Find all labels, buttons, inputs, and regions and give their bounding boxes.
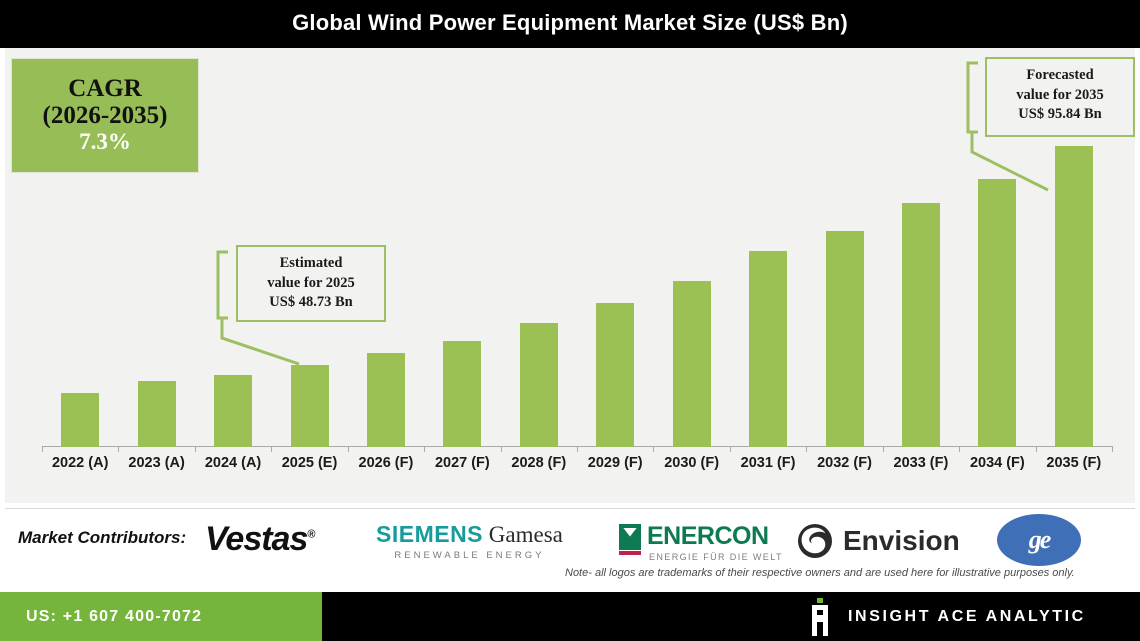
x-tick: [1112, 446, 1113, 452]
contributors-label: Market Contributors:: [18, 528, 186, 548]
x-tick: [424, 446, 425, 452]
x-label-2034F: 2034 (F): [959, 455, 1035, 471]
bar-2031F: [749, 251, 787, 447]
header-bar: Global Wind Power Equipment Market Size …: [0, 0, 1140, 48]
x-tick: [348, 446, 349, 452]
x-tick: [1036, 446, 1037, 452]
bar-2025E: [291, 365, 329, 447]
logo-enercon: ENERCON ENERGIE FÜR DIE WELT: [619, 522, 783, 562]
logo-ge-text: ge: [1029, 525, 1050, 555]
x-label-2033F: 2033 (F): [883, 455, 959, 471]
bar-2022A: [61, 393, 99, 447]
logo-enercon-text: ENERCON: [647, 522, 769, 551]
infographic-page: Global Wind Power Equipment Market Size …: [0, 0, 1140, 641]
x-label-2031F: 2031 (F): [730, 455, 806, 471]
x-label-2028F: 2028 (F): [501, 455, 577, 471]
logo-vestas: Vestas®: [205, 520, 314, 559]
x-label-2027F: 2027 (F): [424, 455, 500, 471]
x-label-2032F: 2032 (F): [807, 455, 883, 471]
x-label-2025E: 2025 (E): [272, 455, 348, 471]
x-label-2022A: 2022 (A): [42, 455, 118, 471]
callout-estimated-2025: Estimated value for 2025 US$ 48.73 Bn: [236, 245, 386, 322]
x-axis-labels: 2022 (A)2023 (A)2024 (A)2025 (E)2026 (F)…: [42, 455, 1112, 481]
callout-est-line2: value for 2025: [247, 274, 375, 294]
bar-2024A: [214, 375, 252, 447]
callout-est-line3: US$ 48.73 Bn: [247, 293, 375, 313]
x-label-2029F: 2029 (F): [577, 455, 653, 471]
x-tick: [118, 446, 119, 452]
bar-2027F: [443, 341, 481, 447]
logo-ge: ge: [997, 514, 1081, 566]
bar-2030F: [673, 281, 711, 447]
enercon-mark-icon: [619, 524, 641, 550]
callout-forecasted-2035: Forecasted value for 2035 US$ 95.84 Bn: [985, 57, 1135, 137]
logo-siemens-tagline: RENEWABLE ENERGY: [376, 550, 563, 561]
x-label-2026F: 2026 (F): [348, 455, 424, 471]
x-tick: [806, 446, 807, 452]
logo-siemens-gamesa: SIEMENS Gamesa RENEWABLE ENERGY: [376, 521, 563, 561]
bar-2033F: [902, 203, 940, 447]
bar-2034F: [978, 179, 1016, 447]
bar-2035F: [1055, 146, 1093, 447]
logo-vestas-mark: ®: [307, 529, 314, 541]
logo-enercon-tagline: ENERGIE FÜR DIE WELT: [649, 552, 783, 562]
x-label-2030F: 2030 (F): [654, 455, 730, 471]
x-tick: [501, 446, 502, 452]
bar-2032F: [826, 231, 864, 447]
bar-2028F: [520, 323, 558, 447]
x-tick: [883, 446, 884, 452]
bar-2026F: [367, 353, 405, 447]
logo-vestas-text: Vestas: [205, 520, 307, 558]
logo-siemens-text: SIEMENS: [376, 521, 483, 547]
trademark-note: Note- all logos are trademarks of their …: [565, 567, 1075, 579]
x-tick: [653, 446, 654, 452]
bar-2029F: [596, 303, 634, 447]
x-tick: [959, 446, 960, 452]
x-label-2035F: 2035 (F): [1036, 455, 1112, 471]
footer-phone: US: +1 607 400-7072: [26, 608, 202, 626]
logo-gamesa-text: Gamesa: [483, 522, 563, 547]
callout-fore-line1: Forecasted: [996, 66, 1124, 86]
bar-series: [42, 60, 1112, 447]
x-label-2024A: 2024 (A): [195, 455, 271, 471]
logo-envision-text: Envision: [843, 525, 960, 557]
contributors-strip: [5, 508, 1135, 593]
x-tick: [730, 446, 731, 452]
x-tick: [271, 446, 272, 452]
page-title: Global Wind Power Equipment Market Size …: [0, 10, 1140, 36]
callout-fore-line2: value for 2035: [996, 86, 1124, 106]
x-label-2023A: 2023 (A): [119, 455, 195, 471]
bar-2023A: [138, 381, 176, 447]
footer-brand-name: INSIGHT ACE ANALYTIC: [848, 608, 1086, 626]
x-tick: [195, 446, 196, 452]
insightace-logo-icon: [806, 598, 834, 636]
logo-envision: Envision: [795, 521, 960, 561]
envision-swirl-icon: [795, 521, 835, 561]
callout-fore-line3: US$ 95.84 Bn: [996, 105, 1124, 125]
x-tick: [42, 446, 43, 452]
x-tick: [577, 446, 578, 452]
callout-est-line1: Estimated: [247, 254, 375, 274]
